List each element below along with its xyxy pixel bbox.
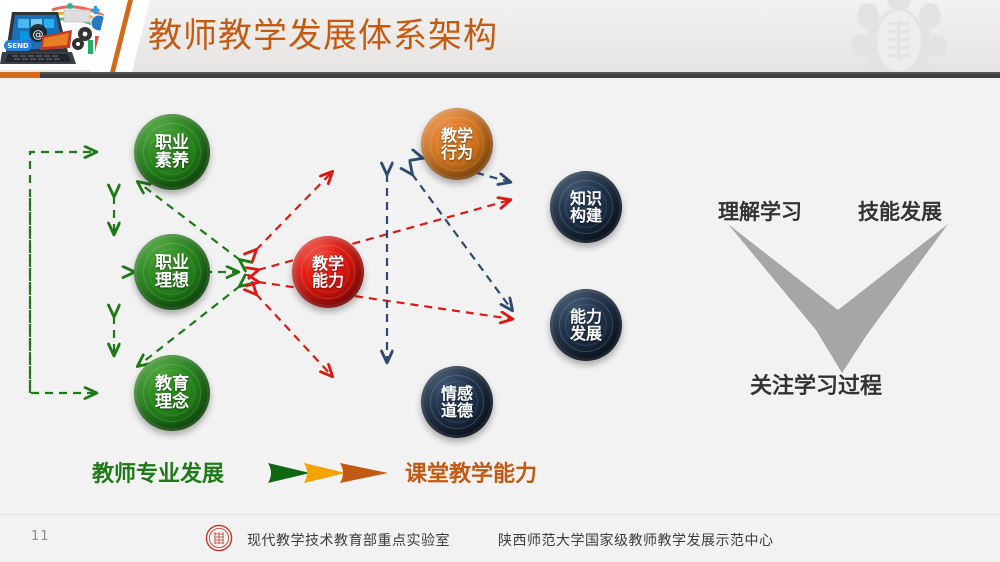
node-label-line2: 发展	[570, 325, 602, 342]
node-label-line1: 职业	[155, 134, 189, 152]
node-label-line1: 教学	[441, 127, 473, 144]
node-label-line1: 情感	[441, 385, 473, 402]
node-zhishi-goujian[interactable]: 知识 构建	[550, 171, 622, 243]
node-jiaoxue-xingwei[interactable]: 教学 行为	[421, 108, 493, 180]
slide-header: @ SEND	[0, 0, 1000, 72]
slide-footer: 11 现代教学技术教育部重点实验室 陕西师范大学国家级教师教学发展示范中心	[0, 514, 1000, 562]
node-jiaoxue-nengli[interactable]: 教学 能力	[292, 236, 364, 308]
header-divider-accent	[0, 72, 40, 78]
node-label-line2: 理想	[155, 272, 189, 290]
right-panel-label-bottom: 关注学习过程	[750, 368, 882, 400]
node-label-line1: 教学	[312, 255, 344, 272]
legend-row: 教师专业发展 课堂教学能力	[0, 450, 690, 496]
university-emblem-watermark	[844, 0, 954, 72]
node-label-line2: 构建	[570, 207, 602, 224]
page-title: 教师教学发展体系架构	[148, 14, 498, 58]
footer-lab-name: 现代教学技术教育部重点实验室	[247, 530, 450, 550]
node-nengli-fazhan[interactable]: 能力 发展	[550, 289, 622, 361]
node-zhiye-lixiang[interactable]: 职业 理想	[134, 234, 210, 310]
legend-label-left: 教师专业发展	[92, 456, 224, 488]
page-number: 11	[31, 529, 50, 544]
slide-root: @ SEND	[0, 0, 1000, 562]
edge-left-loop-top	[30, 152, 96, 393]
node-label-line2: 素养	[155, 152, 189, 170]
node-label-line1: 职业	[155, 254, 189, 272]
right-summary-panel: 理解学习 技能发展 关注学习过程	[690, 188, 990, 418]
footer-center-name: 陕西师范大学国家级教师教学发展示范中心	[498, 530, 774, 550]
node-zhiye-suyang[interactable]: 职业 素养	[134, 114, 210, 190]
red-university-seal	[205, 524, 233, 552]
node-label-line1: 知识	[570, 190, 602, 207]
converging-chevron-arrow	[690, 218, 990, 373]
node-jiaoyu-linian[interactable]: 教育 理念	[134, 355, 210, 431]
node-qinggan-daode[interactable]: 情感 道德	[421, 366, 493, 438]
edge-left-loop-bottom	[30, 198, 96, 393]
svg-text:SEND: SEND	[7, 42, 29, 50]
node-label-line2: 行为	[441, 144, 473, 161]
node-label-line2: 理念	[155, 393, 189, 411]
node-label-line1: 教育	[155, 375, 189, 393]
legend-label-right: 课堂教学能力	[405, 456, 537, 488]
triple-chevron-arrow	[268, 458, 388, 488]
node-label-line2: 道德	[441, 402, 473, 419]
node-label-line2: 能力	[312, 272, 344, 289]
edge-xingwei-nengfazhan	[412, 174, 512, 310]
node-label-line1: 能力	[570, 308, 602, 325]
diagram-canvas: 职业 素养 职业 理想 教育 理念 教学 能力 教学 行为 知识 构建	[0, 78, 1000, 514]
